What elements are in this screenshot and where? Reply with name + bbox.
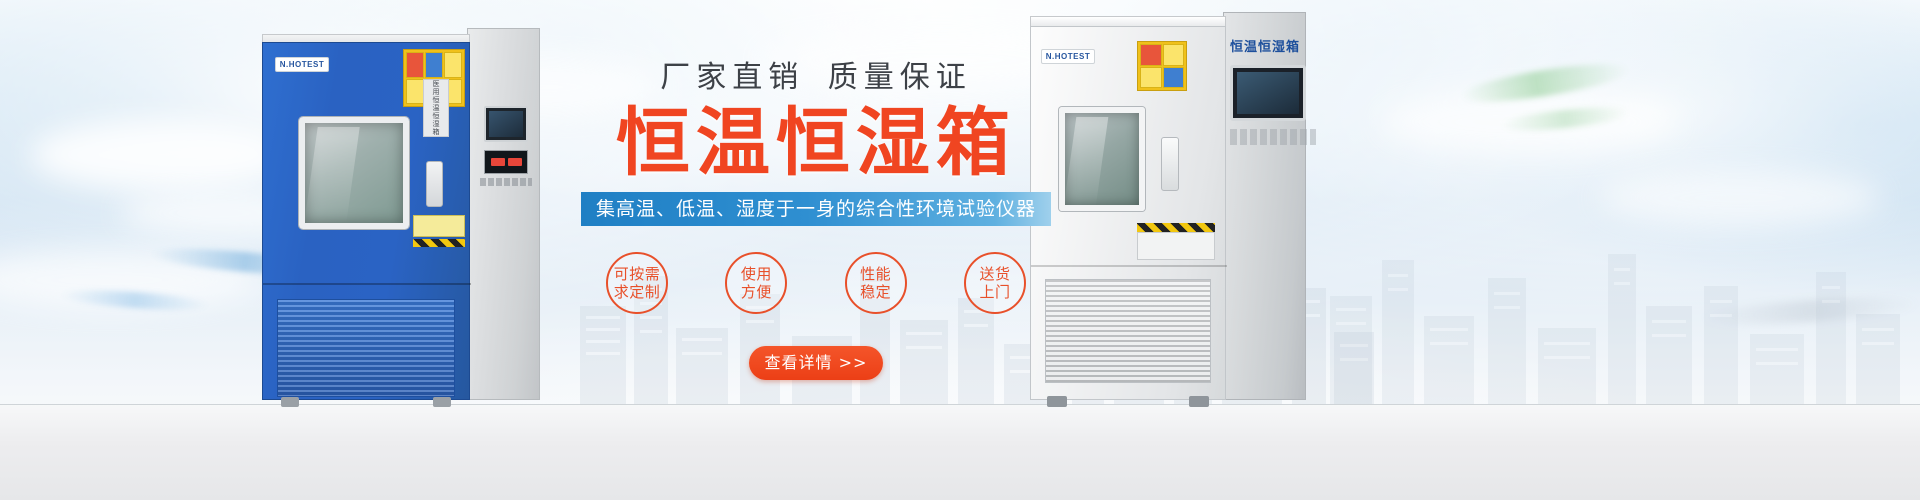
green-swoosh-decoration [1459, 57, 1631, 109]
chamber-right-controller-screen [1230, 65, 1306, 121]
chamber-right-maker-text [1230, 129, 1316, 145]
chamber-left-body: N.HOTEST 医用恒温恒湿箱 [262, 42, 470, 400]
badge-line-1: 使用 [741, 265, 772, 284]
chamber-left-vent-grille [277, 299, 455, 397]
banner-subtitle-bar: 集高温、低温、湿度于一身的综合性环境试验仪器 [581, 192, 1051, 226]
feature-badge-easy-use[interactable]: 使用 方便 [725, 252, 787, 314]
badge-line-1: 可按需 [614, 265, 661, 284]
blue-swoosh-decoration [60, 287, 211, 313]
badge-line-2: 上门 [979, 283, 1010, 302]
badge-line-2: 稳定 [860, 283, 891, 302]
feature-badge-stable[interactable]: 性能 稳定 [845, 252, 907, 314]
cloud-shape [0, 250, 260, 310]
chamber-left-side-text: 医用恒温恒湿箱 [423, 79, 449, 137]
feature-badge-delivery[interactable]: 送货 上门 [964, 252, 1026, 314]
chamber-right-brand-text: 恒温恒湿箱 [1230, 35, 1322, 59]
eyebrow-right-text: 质量保证 [828, 60, 972, 95]
cloud-shape [1600, 170, 1880, 226]
chamber-right-door-handle [1161, 137, 1179, 191]
chamber-right-sticker [1137, 232, 1215, 260]
chamber-left-maker-text [480, 178, 532, 186]
promo-banner: N.HOTEST 医用恒温恒湿箱 恒温恒湿箱 N.HOTEST [0, 0, 1920, 500]
city-skyline-decoration-right [1320, 216, 1920, 406]
chamber-left-door-handle [426, 161, 443, 207]
banner-headline: 恒温恒湿箱 [556, 104, 1076, 182]
chamber-right-hazard-stripe [1137, 223, 1215, 232]
banner-content: 厂家直销 质量保证 恒温恒湿箱 集高温、低温、湿度于一身的综合性环境试验仪器 可… [556, 0, 1076, 500]
view-details-button[interactable]: 查看详情 >> [749, 346, 883, 380]
badge-line-2: 求定制 [614, 283, 661, 302]
green-swoosh-decoration [1499, 103, 1630, 134]
product-image-left: N.HOTEST 医用恒温恒湿箱 [262, 28, 540, 400]
chamber-right-foot [1189, 396, 1209, 407]
chamber-left-digital-readout [484, 150, 528, 174]
badge-line-1: 性能 [860, 265, 891, 284]
badge-line-1: 送货 [979, 265, 1010, 284]
chamber-left-viewport [299, 117, 409, 229]
chamber-left-panel-split [263, 283, 471, 285]
chamber-left-sticker [413, 215, 465, 237]
chamber-left-side-panel [467, 28, 540, 400]
chamber-left-foot [281, 397, 299, 407]
grey-swoosh-decoration [1700, 292, 1920, 329]
chamber-right-side-panel: 恒温恒湿箱 [1223, 12, 1306, 400]
cloud-shape [1380, 90, 1680, 154]
warning-label-right [1137, 41, 1187, 91]
eyebrow-left-text: 厂家直销 [660, 60, 804, 95]
feature-badge-custom[interactable]: 可按需 求定制 [606, 252, 668, 314]
badge-line-2: 方便 [741, 283, 772, 302]
cloud-shape [30, 120, 290, 190]
chamber-left-foot [433, 397, 451, 407]
chamber-left-hazard-stripe [413, 239, 465, 247]
banner-eyebrow: 厂家直销 质量保证 [556, 52, 1076, 96]
feature-badge-group: 可按需 求定制 使用 方便 性能 稳定 送货 上门 [606, 252, 1026, 314]
brand-badge-left: N.HOTEST [275, 57, 329, 72]
chamber-left-controller-screen [484, 106, 528, 142]
